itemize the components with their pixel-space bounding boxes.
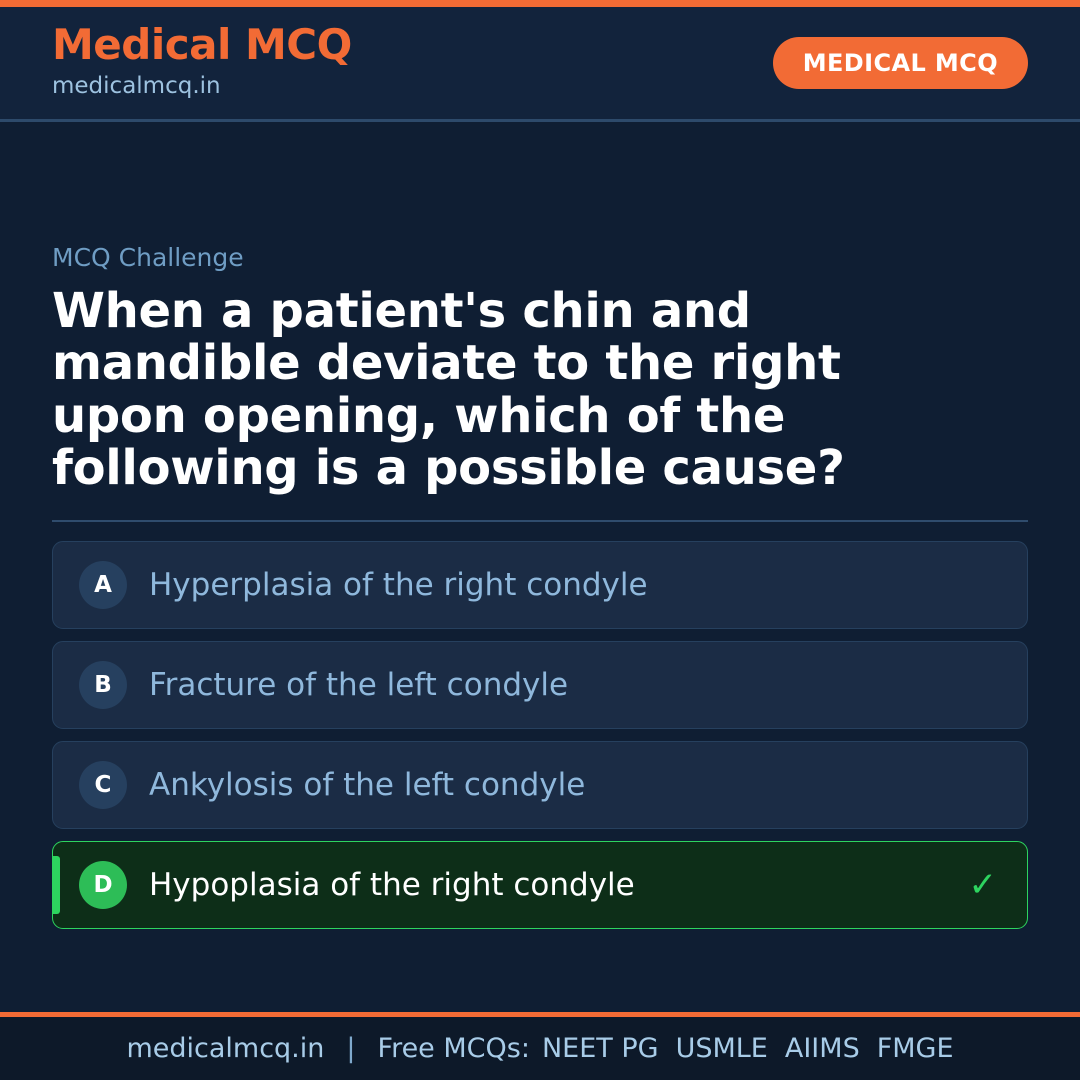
options-list: AHyperplasia of the right condyleBFractu…	[52, 541, 1028, 929]
site-footer: medicalmcq.in | Free MCQs: NEET PGUSMLEA…	[0, 1012, 1080, 1080]
site-header: Medical MCQ medicalmcq.in MEDICAL MCQ	[0, 7, 1080, 122]
option-label: Fracture of the left condyle	[149, 667, 997, 704]
footer-exam: NEET PG	[542, 1033, 659, 1064]
option-b[interactable]: BFracture of the left condyle	[52, 641, 1028, 729]
eyebrow-label: MCQ Challenge	[52, 243, 1028, 273]
footer-inner: medicalmcq.in | Free MCQs: NEET PGUSMLEA…	[126, 1033, 953, 1064]
question-text: When a patient's chin and mandible devia…	[52, 285, 932, 494]
brand-title: Medical MCQ	[52, 23, 352, 67]
footer-exam-list: NEET PGUSMLEAIIMSFMGE	[542, 1033, 954, 1064]
footer-exam: USMLE	[676, 1033, 768, 1064]
header-badge: MEDICAL MCQ	[773, 37, 1028, 89]
footer-exam: AIIMS	[785, 1033, 860, 1064]
footer-separator: |	[346, 1033, 355, 1064]
footer-promo-label: Free MCQs:	[378, 1033, 530, 1064]
option-label: Hyperplasia of the right condyle	[149, 567, 997, 604]
option-label: Ankylosis of the left condyle	[149, 767, 997, 804]
mcq-poster: Medical MCQ medicalmcq.in MEDICAL MCQ MC…	[0, 0, 1080, 1080]
option-letter-badge: A	[79, 561, 127, 609]
brand-subtitle: medicalmcq.in	[52, 69, 352, 104]
question-divider	[52, 520, 1028, 522]
option-letter-badge: B	[79, 661, 127, 709]
footer-site: medicalmcq.in	[126, 1033, 324, 1064]
option-label: Hypoplasia of the right condyle	[149, 867, 969, 904]
option-a[interactable]: AHyperplasia of the right condyle	[52, 541, 1028, 629]
option-letter-badge: C	[79, 761, 127, 809]
option-d[interactable]: DHypoplasia of the right condyle✓	[52, 841, 1028, 929]
top-accent-bar	[0, 0, 1080, 7]
option-c[interactable]: CAnkylosis of the left condyle	[52, 741, 1028, 829]
option-letter-badge: D	[79, 861, 127, 909]
footer-exam: FMGE	[877, 1033, 954, 1064]
brand: Medical MCQ medicalmcq.in	[52, 23, 352, 104]
main-content: MCQ Challenge When a patient's chin and …	[0, 122, 1080, 1012]
correct-check-icon: ✓	[969, 868, 1002, 902]
